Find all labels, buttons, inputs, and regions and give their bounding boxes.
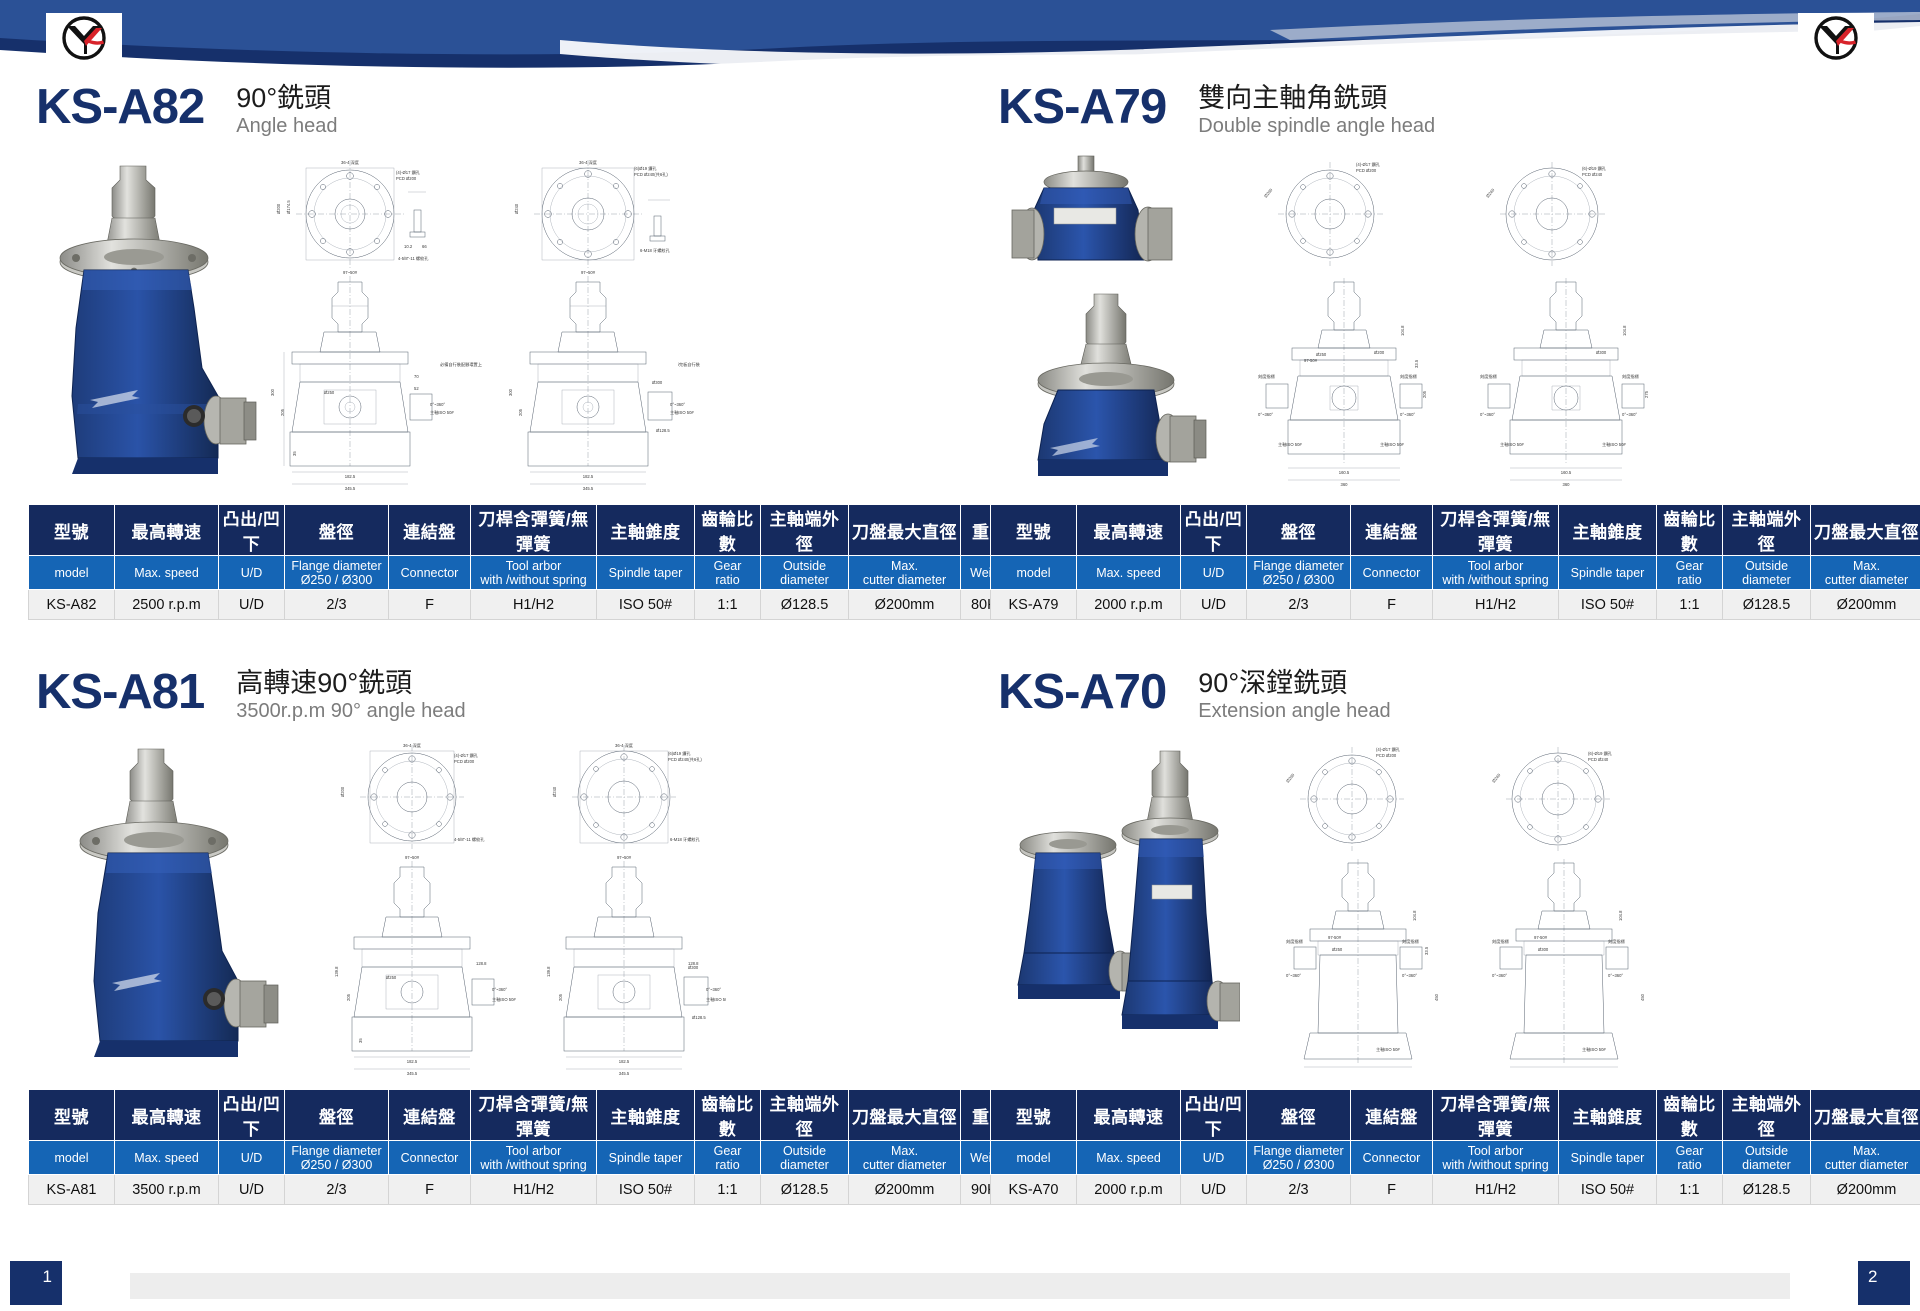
spec-value-row: KS-A82 2500 r.p.m U/D 2/3 F H1/H2 ISO 50… <box>29 590 1019 620</box>
svg-text:主軸ISO 50#: 主軸ISO 50# <box>670 409 694 416</box>
company-logo-left <box>46 13 122 63</box>
svg-text:97-50#: 97-50# <box>1328 935 1342 940</box>
figure-area: 36-4 深度 (4)-Ø17 鑽孔 PCD Ø200 Ø200 4-5/8"-… <box>28 733 968 1083</box>
td-model: KS-A79 <box>991 590 1077 620</box>
svg-text:刻度指標: 刻度指標 <box>1622 373 1640 380</box>
spec-header-cn: 型號 最高轉速 凸出/凹下 盤徑 連結盤 刀桿含彈簧/無彈簧 主軸錐度 齒輪比數… <box>991 505 1920 556</box>
th-cn-speed: 最高轉速 <box>115 505 219 556</box>
svg-text:0°~360°: 0°~360° <box>492 987 507 992</box>
th-cn-cutter: 刀盤最大直徑 <box>849 505 961 556</box>
td-ud: U/D <box>1181 1175 1247 1205</box>
svg-text:104.8: 104.8 <box>1400 325 1405 336</box>
th-cn-gear: 齒輪比數 <box>695 1090 761 1141</box>
svg-text:182.5: 182.5 <box>345 474 356 479</box>
th-en-model: model <box>991 556 1077 590</box>
product-block-ks-a79: KS-A79 雙向主軸角銑頭 Double spindle angle head <box>990 80 1920 640</box>
svg-text:0°~360°: 0°~360° <box>706 987 721 992</box>
td-taper: ISO 50# <box>1559 1175 1657 1205</box>
svg-text:PCD Ø200: PCD Ø200 <box>396 176 417 181</box>
svg-text:52: 52 <box>414 386 419 391</box>
product-block-ks-a81: KS-A81 高轉速90°銑頭 3500r.p.m 90° angle head <box>28 665 968 1225</box>
th-cn-cutter: 刀盤最大直徑 <box>849 1090 961 1141</box>
th-cn-ud: 凸出/凹下 <box>219 505 285 556</box>
th-cn-taper: 主軸錐度 <box>1559 1090 1657 1141</box>
svg-text:104.8: 104.8 <box>1618 910 1623 921</box>
svg-text:PCD Ø240: PCD Ø240 <box>1588 757 1609 762</box>
th-en-model: model <box>29 556 115 590</box>
th-cn-taper: 主軸錐度 <box>597 1090 695 1141</box>
svg-text:360: 360 <box>1563 482 1571 487</box>
th-en-speed: Max. speed <box>1077 556 1181 590</box>
td-ud: U/D <box>219 590 285 620</box>
svg-text:Ø128.5: Ø128.5 <box>656 428 670 433</box>
td-cutter: Ø200mm <box>849 590 961 620</box>
product-photo <box>68 743 298 1073</box>
product-title-en: Angle head <box>236 114 337 139</box>
spec-table: 型號 最高轉速 凸出/凹下 盤徑 連結盤 刀桿含彈簧/無彈簧 主軸錐度 齒輪比數… <box>990 1089 1920 1205</box>
svg-text:主軸ISO 50#: 主軸ISO 50# <box>430 409 454 416</box>
td-arbor: H1/H2 <box>1433 590 1559 620</box>
svg-text:36-4 深度: 36-4 深度 <box>615 742 634 749</box>
figure-area: (4)-Ø17 鑽孔 PCD Ø200 Ø200 <box>990 733 1920 1083</box>
svg-text:(6)Ø19 鑽孔: (6)Ø19 鑽孔 <box>668 750 691 757</box>
svg-text:i完板自行裝配腳環置上: i完板自行裝配腳環置上 <box>678 361 700 368</box>
svg-text:(6)Ø19 鑽孔: (6)Ø19 鑽孔 <box>634 165 657 172</box>
svg-text:主軸ISO 50#: 主軸ISO 50# <box>1582 1046 1606 1053</box>
svg-text:刻度指標: 刻度指標 <box>1608 938 1626 945</box>
svg-text:275: 275 <box>1644 390 1649 398</box>
th-cn-taper: 主軸錐度 <box>1559 505 1657 556</box>
svg-text:4-5/8"-11 螺紋孔: 4-5/8"-11 螺紋孔 <box>454 836 485 843</box>
svg-text:刻度指標: 刻度指標 <box>1258 373 1276 380</box>
svg-text:刻度指標: 刻度指標 <box>1286 938 1304 945</box>
svg-text:97~50#: 97~50# <box>617 855 632 860</box>
th-cn-gear: 齒輪比數 <box>1657 505 1723 556</box>
product-title-en: 3500r.p.m 90° angle head <box>236 699 465 724</box>
td-arbor: H1/H2 <box>471 590 597 620</box>
th-cn-speed: 最高轉速 <box>115 1090 219 1141</box>
th-en-gear: Gear ratio <box>1657 1141 1723 1175</box>
svg-text:36-4 深度: 36-4 深度 <box>341 159 360 166</box>
svg-text:182.5: 182.5 <box>583 474 594 479</box>
svg-text:0°~360°: 0°~360° <box>670 402 685 407</box>
svg-text:刻度指標: 刻度指標 <box>1400 373 1418 380</box>
svg-text:主軸ISO 50#: 主軸ISO 50# <box>1602 441 1626 448</box>
th-cn-cutter: 刀盤最大直徑 <box>1811 505 1920 556</box>
th-cn-ud: 凸出/凹下 <box>1181 1090 1247 1141</box>
svg-text:0°~360°: 0°~360° <box>1258 412 1273 417</box>
page-number-left: 1 <box>10 1261 62 1305</box>
svg-text:66: 66 <box>422 244 427 249</box>
th-en-cutter: Max. cutter diameter <box>849 556 961 590</box>
th-en-taper: Spindle taper <box>597 1141 695 1175</box>
technical-drawing-top-views: 36-4 深度 (4)-Ø17 鑽孔 PCD Ø200 Ø200 Ø174.5 … <box>264 152 700 272</box>
svg-text:Ø250: Ø250 <box>1316 352 1327 357</box>
product-title-row: KS-A82 90°銑頭 Angle head <box>28 80 968 142</box>
th-cn-connector: 連結盤 <box>389 505 471 556</box>
th-cn-flange: 盤徑 <box>285 505 389 556</box>
svg-text:Ø250: Ø250 <box>386 975 397 980</box>
technical-drawing-section-views: 300 205 35 97~50# 52 70 Ø250 0°~360° 主軸I… <box>264 266 700 494</box>
svg-text:345.5: 345.5 <box>345 486 356 491</box>
technical-drawing-top-views: (4)-Ø17 鑽孔 PCD Ø200 Ø200 <box>1266 737 1666 855</box>
product-model-code: KS-A79 <box>998 80 1166 134</box>
svg-text:139.8: 139.8 <box>334 966 339 977</box>
svg-text:Ø250: Ø250 <box>324 390 335 395</box>
svg-text:(6)-Ø19 鑽孔: (6)-Ø19 鑽孔 <box>1582 165 1607 172</box>
svg-text:139.8: 139.8 <box>546 966 551 977</box>
svg-text:0°~360°: 0°~360° <box>1608 973 1623 978</box>
spec-header-cn: 型號 最高轉速 凸出/凹下 盤徑 連結盤 刀桿含彈簧/無彈簧 主軸錐度 齒輪比數… <box>29 505 1019 556</box>
th-en-speed: Max. speed <box>115 556 219 590</box>
svg-text:主軸ISO 50#: 主軸ISO 50# <box>1278 441 1302 448</box>
product-photo <box>42 158 272 488</box>
td-gear: 1:1 <box>695 1175 761 1205</box>
svg-text:PCD Ø240: PCD Ø240 <box>1582 172 1603 177</box>
th-cn-flange: 盤徑 <box>1247 1090 1351 1141</box>
spec-value-row: KS-A79 2000 r.p.m U/D 2/3 F H1/H2 ISO 50… <box>991 590 1920 620</box>
svg-text:必備自行裝配腳環置上: 必備自行裝配腳環置上 <box>440 361 482 368</box>
svg-text:PCD Ø200: PCD Ø200 <box>454 759 475 764</box>
svg-text:PCD Ø240(共6孔): PCD Ø240(共6孔) <box>668 756 702 763</box>
svg-text:(4)-Ø17 鑽孔: (4)-Ø17 鑽孔 <box>454 752 479 759</box>
th-cn-model: 型號 <box>991 1090 1077 1141</box>
svg-text:主軸ISO 50#: 主軸ISO 50# <box>1380 441 1404 448</box>
product-title-cn: 90°深鏜銑頭 <box>1198 667 1390 699</box>
td-cutter: Ø200mm <box>1811 590 1920 620</box>
svg-text:Ø200: Ø200 <box>1285 772 1296 784</box>
svg-text:Ø300: Ø300 <box>1538 947 1549 952</box>
svg-text:360: 360 <box>1341 482 1349 487</box>
svg-text:0°~360°: 0°~360° <box>1622 412 1637 417</box>
svg-text:Ø200: Ø200 <box>1374 350 1385 355</box>
th-en-gear: Gear ratio <box>695 1141 761 1175</box>
td-arbor: H1/H2 <box>471 1175 597 1205</box>
svg-text:182.5: 182.5 <box>407 1059 418 1064</box>
svg-text:205: 205 <box>518 408 523 416</box>
technical-drawing-top-views: 36-4 深度 (4)-Ø17 鑽孔 PCD Ø200 Ø200 4-5/8"-… <box>326 737 726 855</box>
svg-text:(4)-Ø17 鑽孔: (4)-Ø17 鑽孔 <box>396 169 421 176</box>
th-cn-speed: 最高轉速 <box>1077 1090 1181 1141</box>
svg-text:(6)-Ø19 鑽孔: (6)-Ø19 鑽孔 <box>1588 750 1613 757</box>
th-cn-speed: 最高轉速 <box>1077 505 1181 556</box>
spec-header-cn: 型號 最高轉速 凸出/凹下 盤徑 連結盤 刀桿含彈簧/無彈簧 主軸錐度 齒輪比數… <box>991 1090 1920 1141</box>
th-en-connector: Connector <box>1351 1141 1433 1175</box>
product-title-en: Double spindle angle head <box>1198 114 1435 139</box>
svg-text:97~50#: 97~50# <box>405 855 420 860</box>
td-flange: 2/3 <box>1247 1175 1351 1205</box>
th-en-taper: Spindle taper <box>1559 556 1657 590</box>
svg-text:160.5: 160.5 <box>1339 470 1350 475</box>
th-cn-arbor: 刀桿含彈簧/無彈簧 <box>471 505 597 556</box>
th-en-cutter: Max. cutter diameter <box>849 1141 961 1175</box>
svg-text:Ø250: Ø250 <box>1332 947 1343 952</box>
svg-text:345.5: 345.5 <box>619 1071 630 1076</box>
td-outside: Ø128.5 <box>761 1175 849 1205</box>
svg-text:Ø200: Ø200 <box>1263 187 1274 199</box>
svg-text:(4)-Ø17 鑽孔: (4)-Ø17 鑽孔 <box>1356 161 1381 168</box>
th-cn-outside: 主軸端外徑 <box>761 1090 849 1141</box>
product-title-row: KS-A81 高轉速90°銑頭 3500r.p.m 90° angle head <box>28 665 968 727</box>
th-en-taper: Spindle taper <box>1559 1141 1657 1175</box>
td-cutter: Ø200mm <box>849 1175 961 1205</box>
td-model: KS-A70 <box>991 1175 1077 1205</box>
spec-table: 型號 最高轉速 凸出/凹下 盤徑 連結盤 刀桿含彈簧/無彈簧 主軸錐度 齒輪比數… <box>28 1089 1019 1205</box>
th-cn-connector: 連結盤 <box>1351 1090 1433 1141</box>
th-en-ud: U/D <box>219 556 285 590</box>
td-speed: 2000 r.p.m <box>1077 1175 1181 1205</box>
th-en-ud: U/D <box>1181 556 1247 590</box>
th-cn-flange: 盤徑 <box>1247 505 1351 556</box>
svg-text:450: 450 <box>1434 993 1439 1001</box>
th-cn-arbor: 刀桿含彈簧/無彈簧 <box>1433 1090 1559 1141</box>
svg-text:Ø200: Ø200 <box>276 203 281 214</box>
product-title-cn: 雙向主軸角銑頭 <box>1198 82 1435 114</box>
td-arbor: H1/H2 <box>1433 1175 1559 1205</box>
svg-text:Ø300: Ø300 <box>652 380 663 385</box>
th-en-outside: Outside diameter <box>761 556 849 590</box>
page-number-right: 2 <box>1858 1261 1910 1305</box>
svg-text:300: 300 <box>508 388 513 396</box>
td-taper: ISO 50# <box>597 590 695 620</box>
th-en-arbor: Tool arbor with /without spring <box>471 1141 597 1175</box>
svg-text:Ø240: Ø240 <box>552 786 557 797</box>
svg-text:205: 205 <box>1422 390 1427 398</box>
company-logo-right <box>1798 13 1874 63</box>
svg-text:97-50#: 97-50# <box>1534 935 1548 940</box>
th-cn-connector: 連結盤 <box>1351 505 1433 556</box>
th-cn-outside: 主軸端外徑 <box>1723 1090 1811 1141</box>
svg-text:刻度指標: 刻度指標 <box>1480 373 1498 380</box>
th-cn-taper: 主軸錐度 <box>597 505 695 556</box>
svg-text:36-4 深度: 36-4 深度 <box>579 159 598 166</box>
product-title-en: Extension angle head <box>1198 699 1390 724</box>
th-cn-model: 型號 <box>29 505 115 556</box>
th-cn-flange: 盤徑 <box>285 1090 389 1141</box>
th-en-arbor: Tool arbor with /without spring <box>1433 556 1559 590</box>
svg-text:0°~360°: 0°~360° <box>1402 973 1417 978</box>
svg-text:主軸ISO 50#: 主軸ISO 50# <box>1376 1046 1400 1053</box>
th-cn-ud: 凸出/凹下 <box>219 1090 285 1141</box>
spec-header-en: model Max. speed U/D Flange diameter Ø25… <box>991 1141 1920 1175</box>
figure-area: 36-4 深度 (4)-Ø17 鑽孔 PCD Ø200 Ø200 Ø174.5 … <box>28 148 968 498</box>
svg-text:33.5: 33.5 <box>1424 946 1429 955</box>
td-speed: 3500 r.p.m <box>115 1175 219 1205</box>
td-connector: F <box>389 1175 471 1205</box>
td-flange: 2/3 <box>1247 590 1351 620</box>
th-en-gear: Gear ratio <box>1657 556 1723 590</box>
figure-area: (4)-Ø17 鑽孔 PCD Ø200 Ø200 <box>990 148 1920 498</box>
svg-text:6-M18 牙螺紋孔: 6-M18 牙螺紋孔 <box>640 247 671 254</box>
catalog-page: KS-A82 90°銑頭 Angle head <box>0 0 1920 1311</box>
svg-text:0°~360°: 0°~360° <box>430 402 445 407</box>
th-en-outside: Outside diameter <box>761 1141 849 1175</box>
svg-text:205: 205 <box>280 408 285 416</box>
technical-drawing-section-views: 97~50# 139.8 205 35 Ø250 128.8 0°~360° 主… <box>326 851 726 1079</box>
th-en-cutter: Max. cutter diameter <box>1811 556 1920 590</box>
td-flange: 2/3 <box>285 590 389 620</box>
spec-header-en: model Max. speed U/D Flange diameter Ø25… <box>29 1141 1019 1175</box>
product-title-row: KS-A70 90°深鏜銑頭 Extension angle head <box>990 665 1920 727</box>
th-en-flange: Flange diameter Ø250 / Ø300 <box>1247 556 1351 590</box>
product-model-code: KS-A70 <box>998 665 1166 719</box>
product-block-ks-a70: KS-A70 90°深鏜銑頭 Extension angle head <box>990 665 1920 1225</box>
svg-text:主軸ISO 50#: 主軸ISO 50# <box>1500 441 1524 448</box>
td-model: KS-A81 <box>29 1175 115 1205</box>
td-connector: F <box>1351 1175 1433 1205</box>
th-en-cutter: Max. cutter diameter <box>1811 1141 1920 1175</box>
th-en-flange: Flange diameter Ø250 / Ø300 <box>285 556 389 590</box>
technical-drawing-section-views: 刻度指標 0°~360° 刻度指標 0°~360° 97-50# Ø250 10… <box>1266 851 1666 1081</box>
th-en-outside: Outside diameter <box>1723 556 1811 590</box>
td-outside: Ø128.5 <box>761 590 849 620</box>
spec-table: 型號 最高轉速 凸出/凹下 盤徑 連結盤 刀桿含彈簧/無彈簧 主軸錐度 齒輪比數… <box>28 504 1019 620</box>
svg-text:160.5: 160.5 <box>1561 470 1572 475</box>
td-taper: ISO 50# <box>597 1175 695 1205</box>
th-en-flange: Flange diameter Ø250 / Ø300 <box>285 1141 389 1175</box>
svg-text:36-4 深度: 36-4 深度 <box>403 742 422 749</box>
svg-text:Ø240: Ø240 <box>1485 187 1496 199</box>
svg-text:Ø174.5: Ø174.5 <box>286 200 291 214</box>
th-cn-model: 型號 <box>29 1090 115 1141</box>
th-en-ud: U/D <box>219 1141 285 1175</box>
th-cn-gear: 齒輪比數 <box>695 505 761 556</box>
th-cn-cutter: 刀盤最大直徑 <box>1811 1090 1920 1141</box>
spec-header-en: model Max. speed U/D Flange diameter Ø25… <box>991 556 1920 590</box>
svg-text:PCD Ø200: PCD Ø200 <box>1356 168 1377 173</box>
th-en-arbor: Tool arbor with /without spring <box>1433 1141 1559 1175</box>
svg-text:主軸ISO 50#: 主軸ISO 50# <box>706 996 726 1003</box>
td-gear: 1:1 <box>695 590 761 620</box>
td-connector: F <box>1351 590 1433 620</box>
td-ud: U/D <box>219 1175 285 1205</box>
td-ud: U/D <box>1181 590 1247 620</box>
th-cn-connector: 連結盤 <box>389 1090 471 1141</box>
th-cn-model: 型號 <box>991 505 1077 556</box>
td-gear: 1:1 <box>1657 590 1723 620</box>
svg-text:35: 35 <box>358 1038 363 1043</box>
svg-text:Ø128.5: Ø128.5 <box>692 1015 706 1020</box>
svg-text:PCD Ø240(共6孔): PCD Ø240(共6孔) <box>634 171 668 178</box>
svg-text:Ø300: Ø300 <box>688 965 699 970</box>
page-footer: 1 2 <box>0 1255 1920 1311</box>
th-en-connector: Connector <box>1351 556 1433 590</box>
product-photo <box>998 148 1238 498</box>
th-cn-arbor: 刀桿含彈簧/無彈簧 <box>471 1090 597 1141</box>
spec-header-en: model Max. speed U/D Flange diameter Ø25… <box>29 556 1019 590</box>
th-en-ud: U/D <box>1181 1141 1247 1175</box>
svg-text:PCD Ø200: PCD Ø200 <box>1376 753 1397 758</box>
svg-text:450: 450 <box>1640 993 1645 1001</box>
product-model-code: KS-A82 <box>36 80 204 134</box>
svg-text:(4)-Ø17 鑽孔: (4)-Ø17 鑽孔 <box>1376 746 1401 753</box>
svg-text:10.2: 10.2 <box>404 244 413 249</box>
svg-text:Ø240: Ø240 <box>514 203 519 214</box>
td-speed: 2000 r.p.m <box>1077 590 1181 620</box>
svg-text:刻度指標: 刻度指標 <box>1402 938 1420 945</box>
spec-table: 型號 最高轉速 凸出/凹下 盤徑 連結盤 刀桿含彈簧/無彈簧 主軸錐度 齒輪比數… <box>990 504 1920 620</box>
product-title-cn: 高轉速90°銑頭 <box>236 667 465 699</box>
svg-text:刻度指標: 刻度指標 <box>1492 938 1510 945</box>
svg-text:104.8: 104.8 <box>1412 910 1417 921</box>
svg-text:97~50#: 97~50# <box>343 270 358 275</box>
th-en-model: model <box>29 1141 115 1175</box>
product-model-code: KS-A81 <box>36 665 204 719</box>
th-en-outside: Outside diameter <box>1723 1141 1811 1175</box>
td-outside: Ø128.5 <box>1723 1175 1811 1205</box>
th-en-speed: Max. speed <box>115 1141 219 1175</box>
svg-text:35: 35 <box>292 451 297 456</box>
svg-text:97-50#: 97-50# <box>1304 358 1318 363</box>
footer-bar <box>130 1273 1790 1299</box>
th-cn-outside: 主軸端外徑 <box>1723 505 1811 556</box>
svg-text:0°~360°: 0°~360° <box>1480 412 1495 417</box>
svg-text:128.8: 128.8 <box>476 961 487 966</box>
spec-value-row: KS-A70 2000 r.p.m U/D 2/3 F H1/H2 ISO 50… <box>991 1175 1920 1205</box>
technical-drawing-top-views: (4)-Ø17 鑽孔 PCD Ø200 Ø200 <box>1248 152 1668 272</box>
technical-drawing-section-views: 刻度指標 0°~360° 刻度指標 0°~360° Ø250 Ø200 104.… <box>1248 268 1668 496</box>
th-en-gear: Gear ratio <box>695 556 761 590</box>
td-speed: 2500 r.p.m <box>115 590 219 620</box>
td-flange: 2/3 <box>285 1175 389 1205</box>
svg-text:4-5/8"-11 螺紋孔: 4-5/8"-11 螺紋孔 <box>398 255 429 262</box>
td-taper: ISO 50# <box>1559 590 1657 620</box>
td-cutter: Ø200mm <box>1811 1175 1920 1205</box>
td-gear: 1:1 <box>1657 1175 1723 1205</box>
product-photo <box>1000 733 1240 1081</box>
td-outside: Ø128.5 <box>1723 590 1811 620</box>
product-title-row: KS-A79 雙向主軸角銑頭 Double spindle angle head <box>990 80 1920 142</box>
td-connector: F <box>389 590 471 620</box>
svg-text:0°~360°: 0°~360° <box>1286 973 1301 978</box>
svg-text:Ø200: Ø200 <box>340 786 345 797</box>
svg-text:70: 70 <box>414 374 419 379</box>
th-en-speed: Max. speed <box>1077 1141 1181 1175</box>
th-en-flange: Flange diameter Ø250 / Ø300 <box>1247 1141 1351 1175</box>
th-en-taper: Spindle taper <box>597 556 695 590</box>
svg-text:主軸ISO 50#: 主軸ISO 50# <box>492 996 516 1003</box>
svg-text:205: 205 <box>558 993 563 1001</box>
svg-text:33.5: 33.5 <box>1414 359 1419 368</box>
svg-text:0°~360°: 0°~360° <box>1492 973 1507 978</box>
th-en-connector: Connector <box>389 1141 471 1175</box>
product-title-cn: 90°銑頭 <box>236 82 337 114</box>
th-en-model: model <box>991 1141 1077 1175</box>
spec-header-cn: 型號 最高轉速 凸出/凹下 盤徑 連結盤 刀桿含彈簧/無彈簧 主軸錐度 齒輪比數… <box>29 1090 1019 1141</box>
svg-text:104.8: 104.8 <box>1622 325 1627 336</box>
svg-text:182.5: 182.5 <box>619 1059 630 1064</box>
svg-text:97~50#: 97~50# <box>581 270 596 275</box>
svg-text:345.5: 345.5 <box>407 1071 418 1076</box>
th-cn-outside: 主軸端外徑 <box>761 505 849 556</box>
top-banner <box>0 0 1920 74</box>
svg-text:0°~360°: 0°~360° <box>1400 412 1415 417</box>
product-block-ks-a82: KS-A82 90°銑頭 Angle head <box>28 80 968 640</box>
th-cn-gear: 齒輪比數 <box>1657 1090 1723 1141</box>
svg-text:6-M18 牙螺紋孔: 6-M18 牙螺紋孔 <box>670 836 701 843</box>
th-en-arbor: Tool arbor with /without spring <box>471 556 597 590</box>
th-cn-ud: 凸出/凹下 <box>1181 505 1247 556</box>
svg-text:345.5: 345.5 <box>583 486 594 491</box>
spec-value-row: KS-A81 3500 r.p.m U/D 2/3 F H1/H2 ISO 50… <box>29 1175 1019 1205</box>
svg-text:205: 205 <box>346 993 351 1001</box>
svg-text:300: 300 <box>270 388 275 396</box>
td-model: KS-A82 <box>29 590 115 620</box>
th-en-connector: Connector <box>389 556 471 590</box>
svg-text:Ø300: Ø300 <box>1596 350 1607 355</box>
th-cn-arbor: 刀桿含彈簧/無彈簧 <box>1433 505 1559 556</box>
svg-text:Ø240: Ø240 <box>1491 772 1502 784</box>
